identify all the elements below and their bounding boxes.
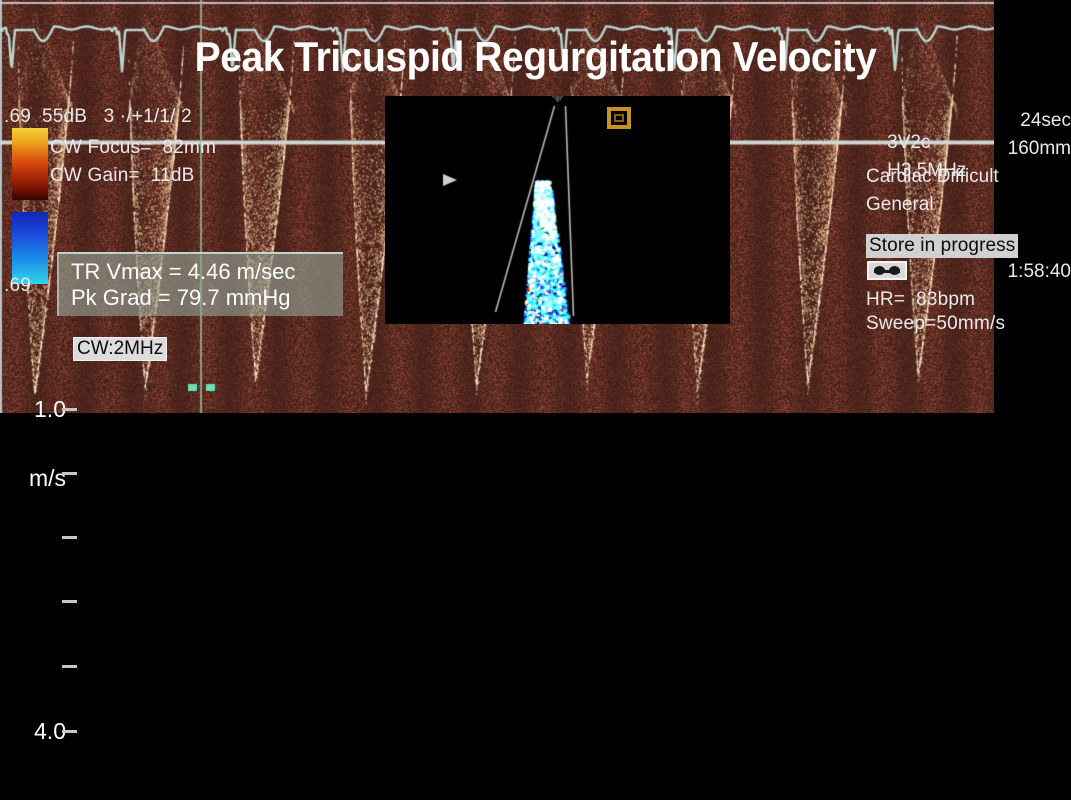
colorbar-cool-segment (12, 212, 48, 284)
colorbar-warm-segment (12, 128, 48, 200)
axis-tick (62, 730, 77, 733)
axis-tick (62, 408, 77, 411)
peak-gradient-value: Pk Grad = 79.7 mmHg (71, 285, 290, 311)
cw-gain-label: CW Gain= 11dB (50, 165, 194, 187)
elapsed-label: 24sec (1020, 110, 1071, 132)
depth-label: 160mm (1008, 138, 1071, 160)
left-header-line: .69 55dB 3 ·/+1/1/ 2 (4, 106, 192, 128)
color-doppler-colorbar (12, 128, 48, 284)
sweep-speed-label: Sweep=50mm/s (866, 313, 1005, 335)
axis-tick (62, 665, 77, 668)
velocity-axis-label-1: 1.0 (6, 396, 66, 423)
measurement-result-box[interactable]: TR Vmax = 4.46 m/sec Pk Grad = 79.7 mmHg (57, 252, 343, 316)
page-title: Peak Tricuspid Regurgitation Velocity (37, 33, 1033, 81)
colorbar-bottom-label: .69 (4, 275, 31, 297)
cw-mode-badge: CW:2MHz (73, 337, 167, 361)
mode-label: General (866, 194, 1071, 216)
axis-tick (62, 472, 77, 475)
store-status-badge: Store in progress (866, 234, 1018, 258)
2d-echo-sector-image (385, 96, 730, 324)
velocity-axis-label-4: 4.0 (6, 718, 66, 745)
tr-vmax-value: TR Vmax = 4.46 m/sec (71, 259, 295, 285)
ultrasound-screenshot: Peak Tricuspid Regurgitation Velocity .6… (0, 0, 1071, 800)
axis-tick (62, 600, 77, 603)
axis-tick (62, 536, 77, 539)
cw-focus-label: CW Focus= 82mm (50, 137, 216, 159)
probe-orientation-marker-icon (606, 106, 632, 130)
heart-rate-label: HR= 83bpm (866, 289, 975, 311)
velocity-axis-units: m/s (6, 465, 66, 492)
study-clock: 1:58:40 (866, 261, 1071, 283)
preset-label: Cardiac Difficult (866, 166, 1071, 188)
